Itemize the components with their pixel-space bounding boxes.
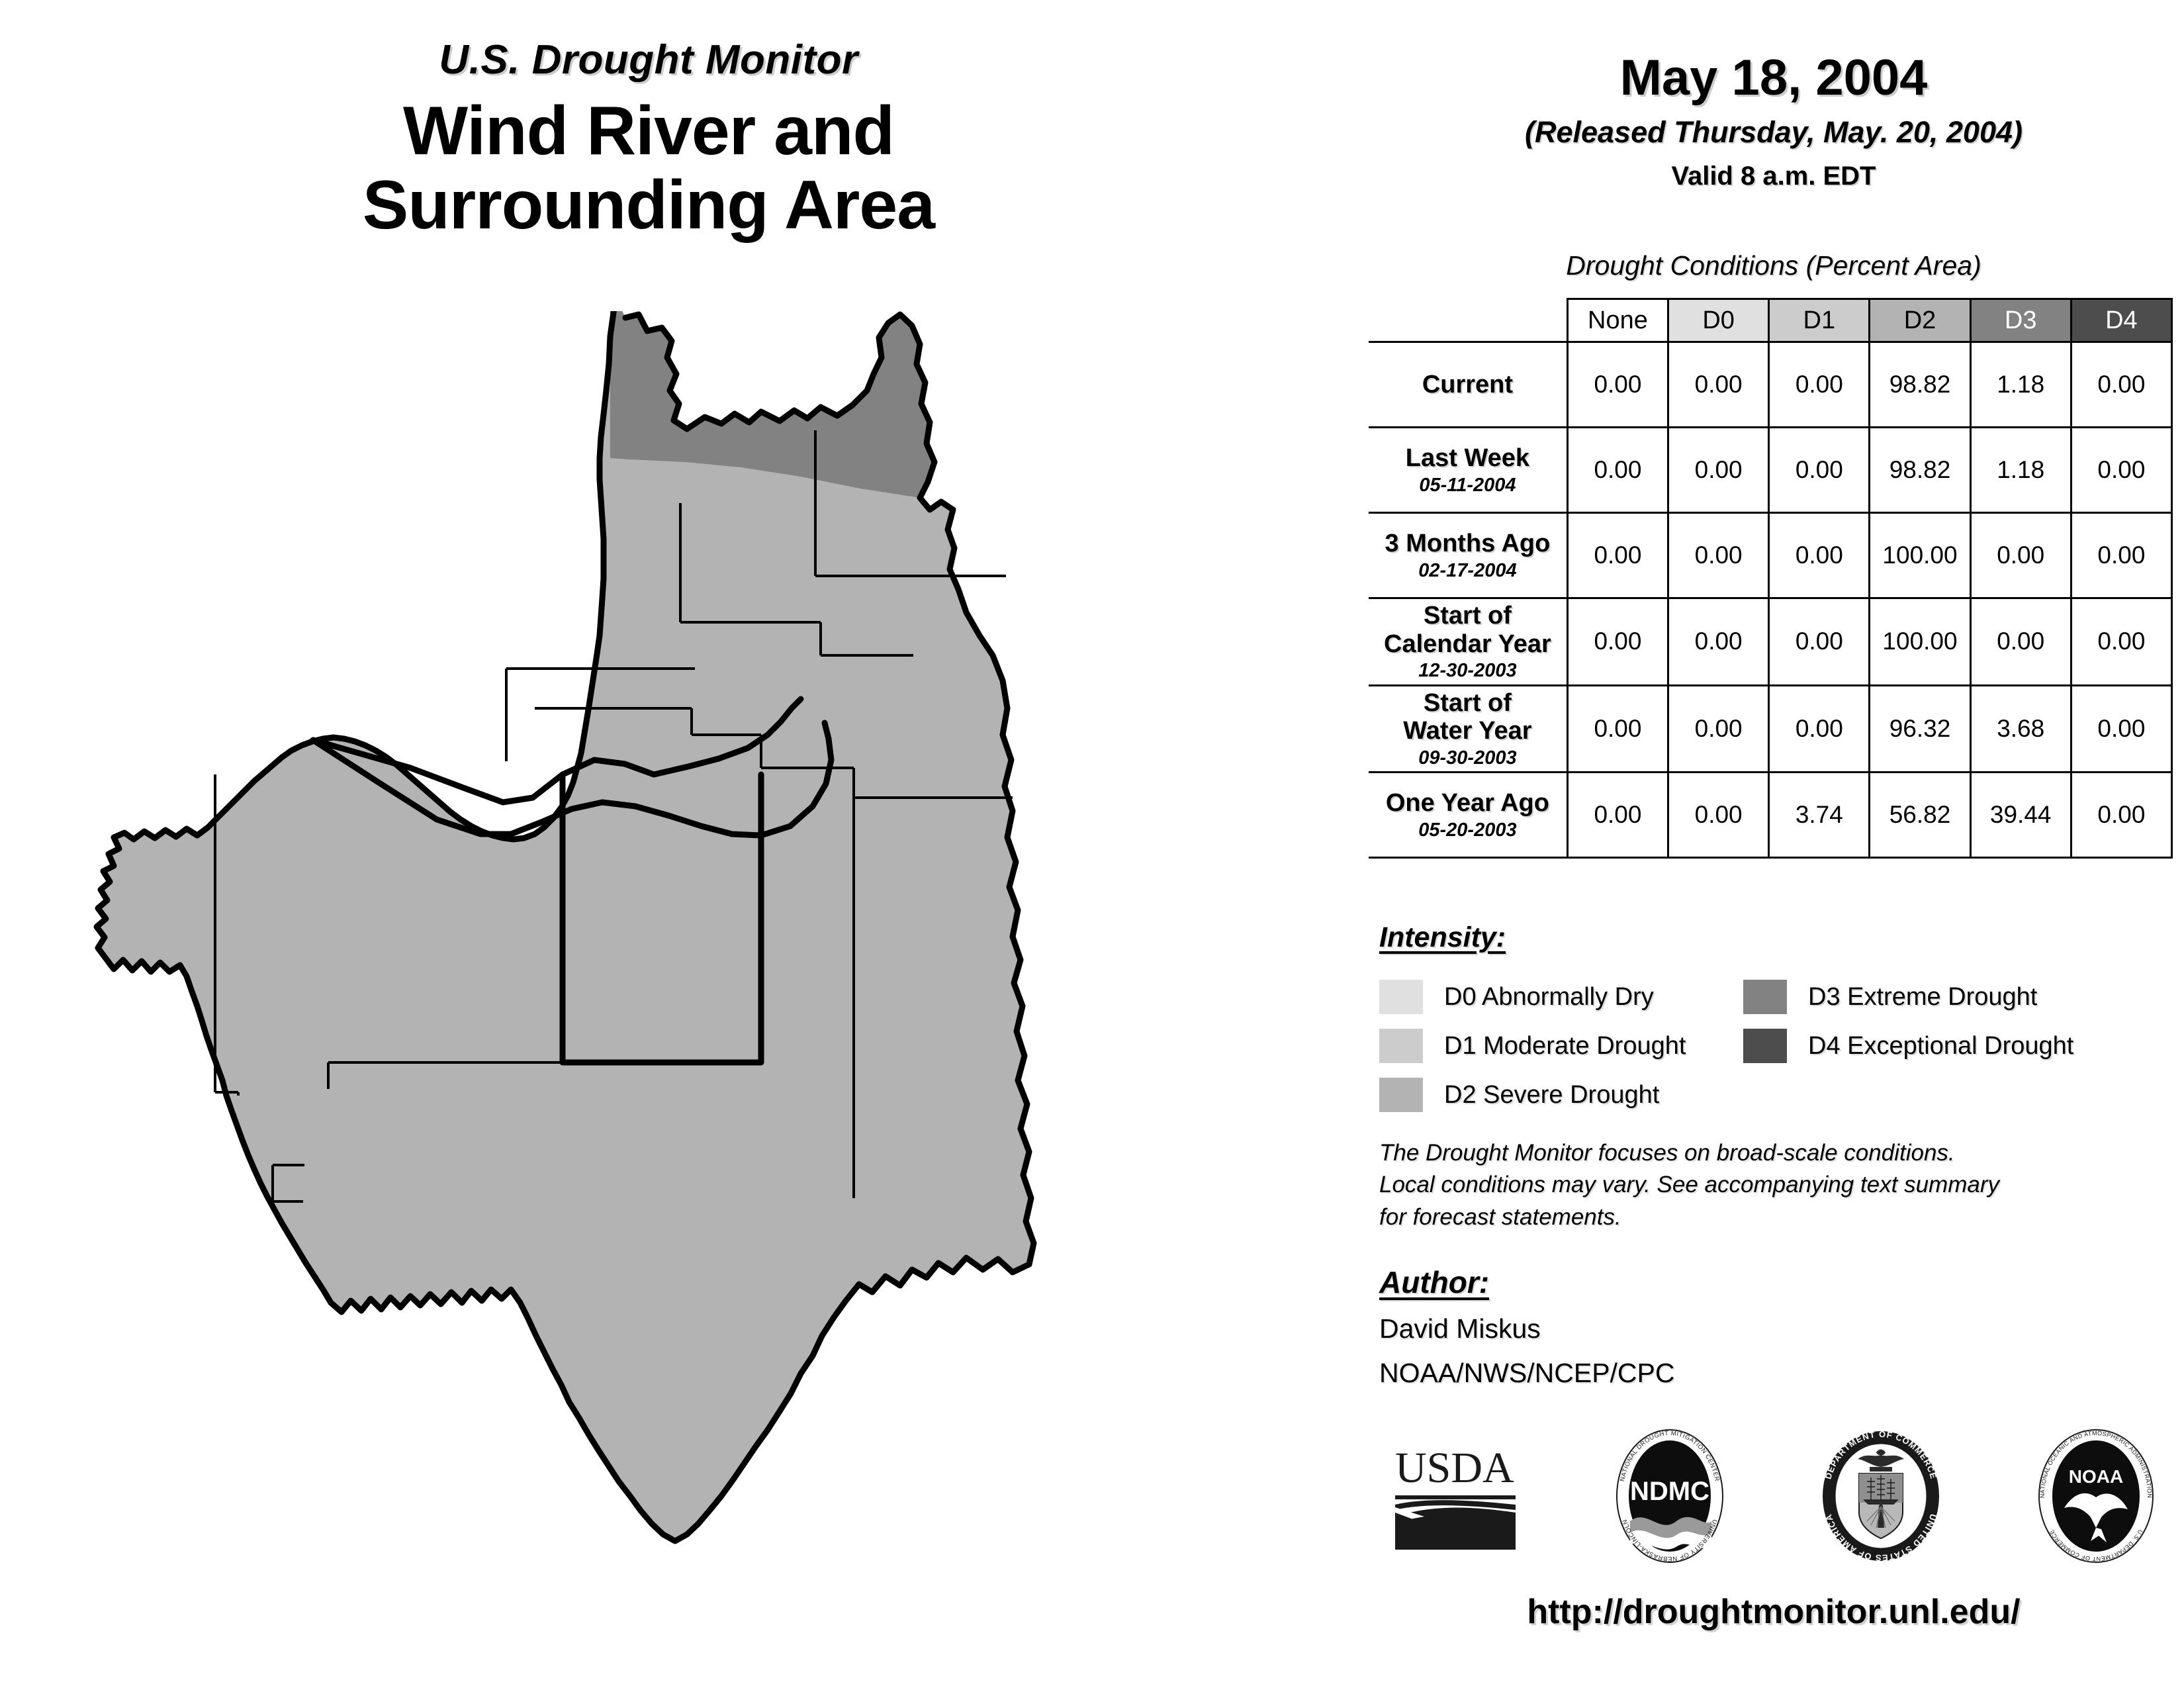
table-row: 3 Months Ago02-17-20040.000.000.00100.00…: [1369, 513, 2172, 598]
value-cell-d0: 0.00: [1668, 513, 1769, 598]
legend-label-d1: D1 Moderate Drought: [1444, 1032, 1686, 1060]
value-cell-d0: 0.00: [1668, 773, 1769, 858]
value-cell-d3: 1.18: [1970, 428, 2071, 513]
valid-time: Valid 8 a.m. EDT: [1363, 162, 2184, 191]
value-cell-d0: 0.00: [1668, 685, 1769, 773]
drought-map-svg[interactable]: [40, 311, 1337, 1556]
value-cell-d3: 3.68: [1970, 685, 2071, 773]
legend-item-d0: D0 Abnormally Dry: [1379, 972, 1743, 1021]
row-label-date: 05-11-2004: [1373, 475, 1563, 496]
author-block: Author: David Miskus NOAA/NWS/NCEP/CPC: [1379, 1264, 2160, 1389]
value-cell-d2: 98.82: [1870, 428, 1970, 513]
row-label-cell: 3 Months Ago02-17-2004: [1369, 513, 1567, 598]
column-header-d2: D2: [1870, 299, 1970, 342]
value-cell-d4: 0.00: [2071, 773, 2171, 858]
site-url-link[interactable]: http://droughtmonitor.unl.edu/: [1363, 1592, 2184, 1632]
legend-label-d2: D2 Severe Drought: [1444, 1081, 1659, 1109]
disclaimer-line-3: for forecast statements.: [1379, 1201, 2160, 1233]
noaa-logo: NOAA NATIONAL OCEANIC AND ATMOSPHERIC AD…: [2035, 1429, 2158, 1568]
value-cell-none: 0.00: [1567, 513, 1668, 598]
table-row: Current0.000.000.0098.821.180.00: [1369, 342, 2172, 428]
row-label-main: Start of: [1373, 689, 1563, 718]
ndmc-logo-icon: NDMC NATIONAL DROUGHT MITIGATION CENTER …: [1614, 1429, 1726, 1564]
ndmc-logo: NDMC NATIONAL DROUGHT MITIGATION CENTER …: [1614, 1429, 1726, 1568]
logo-row: USDA NDMC NATIONAL DROUGHT MITIGATION CE…: [1390, 1427, 2158, 1569]
ndmc-logo-text: NDMC: [1630, 1477, 1709, 1506]
value-cell-d0: 0.00: [1668, 598, 1769, 686]
disclaimer-text: The Drought Monitor focuses on broad-sca…: [1379, 1137, 2160, 1233]
value-cell-d1: 0.00: [1769, 685, 1870, 773]
value-cell-d4: 0.00: [2071, 513, 2171, 598]
legend-grid: D0 Abnormally DryD3 Extreme DroughtD1 Mo…: [1379, 972, 2173, 1119]
row-label-date: 02-17-2004: [1373, 560, 1563, 581]
usda-logo-text: USDA: [1395, 1444, 1514, 1492]
disclaimer-line-2: Local conditions may vary. See accompany…: [1379, 1169, 2160, 1201]
noaa-logo-text: NOAA: [2069, 1466, 2123, 1487]
map-panel: U.S. Drought Monitor Wind River and Surr…: [0, 0, 1363, 1688]
value-cell-d1: 0.00: [1769, 598, 1870, 686]
table-corner-cell: [1369, 299, 1567, 342]
column-header-none: None: [1567, 299, 1668, 342]
disclaimer-line-1: The Drought Monitor focuses on broad-sca…: [1379, 1137, 2160, 1169]
row-label-main: Last Week: [1373, 444, 1563, 473]
legend-swatch-d2: [1379, 1078, 1423, 1112]
drought-monitor-label: U.S. Drought Monitor: [0, 40, 1297, 81]
intensity-heading: Intensity:: [1379, 921, 2173, 954]
table-row: Start ofWater Year09-30-20030.000.000.00…: [1369, 685, 2172, 773]
intensity-legend: Intensity: D0 Abnormally DryD3 Extreme D…: [1379, 921, 2173, 1119]
dept-commerce-seal-icon: DEPARTMENT OF COMMERCE UNITED STATES OF …: [1818, 1429, 1944, 1564]
value-cell-d4: 0.00: [2071, 428, 2171, 513]
value-cell-d1: 0.00: [1769, 513, 1870, 598]
valid-date: May 18, 2004: [1363, 53, 2184, 103]
table-caption: Drought Conditions (Percent Area): [1363, 250, 2184, 281]
value-cell-none: 0.00: [1567, 773, 1668, 858]
row-label-date: 09-30-2003: [1373, 747, 1563, 769]
row-label-main: 3 Months Ago: [1373, 530, 1563, 558]
value-cell-d2: 98.82: [1870, 342, 1970, 428]
value-cell-d1: 0.00: [1769, 342, 1870, 428]
value-cell-d2: 100.00: [1870, 513, 1970, 598]
value-cell-d2: 56.82: [1870, 773, 1970, 858]
value-cell-d3: 0.00: [1970, 598, 2071, 686]
table-row: Start ofCalendar Year12-30-20030.000.000…: [1369, 598, 2172, 686]
date-block: May 18, 2004 (Released Thursday, May. 20…: [1363, 53, 2184, 191]
value-cell-d1: 0.00: [1769, 428, 1870, 513]
value-cell-d2: 100.00: [1870, 598, 1970, 686]
title-block: U.S. Drought Monitor Wind River and Surr…: [0, 40, 1297, 243]
row-label-cell: Last Week05-11-2004: [1369, 428, 1567, 513]
legend-item-d1: D1 Moderate Drought: [1379, 1021, 1743, 1070]
row-label-cell: Start ofCalendar Year12-30-2003: [1369, 598, 1567, 686]
value-cell-none: 0.00: [1567, 428, 1668, 513]
row-label-cell: One Year Ago05-20-2003: [1369, 773, 1567, 858]
legend-item-d3: D3 Extreme Drought: [1743, 972, 2140, 1021]
legend-swatch-d3: [1743, 980, 1787, 1014]
region-title-line-2: Surrounding Area: [0, 168, 1297, 242]
legend-swatch-d1: [1379, 1029, 1423, 1063]
author-name: David Miskus: [1379, 1313, 2160, 1344]
value-cell-d4: 0.00: [2071, 685, 2171, 773]
value-cell-d0: 0.00: [1668, 342, 1769, 428]
author-affiliation: NOAA/NWS/NCEP/CPC: [1379, 1358, 2160, 1389]
value-cell-none: 0.00: [1567, 685, 1668, 773]
value-cell-d4: 0.00: [2071, 598, 2171, 686]
legend-swatch-d4: [1743, 1029, 1787, 1063]
legend-item-d4: D4 Exceptional Drought: [1743, 1021, 2140, 1070]
row-label-date: 05-20-2003: [1373, 820, 1563, 841]
value-cell-d3: 0.00: [1970, 513, 2071, 598]
row-label-cell: Start ofWater Year09-30-2003: [1369, 685, 1567, 773]
table-row: One Year Ago05-20-20030.000.003.7456.823…: [1369, 773, 2172, 858]
row-label-main: Calendar Year: [1373, 630, 1563, 659]
table-header-row: None D0 D1 D2 D3 D4: [1369, 299, 2172, 342]
value-cell-d4: 0.00: [2071, 342, 2171, 428]
usda-logo: USDA: [1390, 1438, 1522, 1558]
value-cell-d2: 96.32: [1870, 685, 1970, 773]
author-heading: Author:: [1379, 1264, 2160, 1300]
column-header-d0: D0: [1668, 299, 1769, 342]
info-panel: May 18, 2004 (Released Thursday, May. 20…: [1363, 0, 2184, 1688]
row-label-main: Water Year: [1373, 717, 1563, 745]
value-cell-d0: 0.00: [1668, 428, 1769, 513]
value-cell-d1: 3.74: [1769, 773, 1870, 858]
legend-label-d3: D3 Extreme Drought: [1808, 983, 2037, 1011]
value-cell-none: 0.00: [1567, 598, 1668, 686]
row-label-main: Start of: [1373, 602, 1563, 630]
row-label-cell: Current: [1369, 342, 1567, 428]
noaa-logo-icon: NOAA NATIONAL OCEANIC AND ATMOSPHERIC AD…: [2035, 1429, 2158, 1564]
column-header-d1: D1: [1769, 299, 1870, 342]
region-title-line-1: Wind River and: [0, 94, 1297, 168]
value-cell-d3: 1.18: [1970, 342, 2071, 428]
legend-label-d4: D4 Exceptional Drought: [1808, 1032, 2073, 1060]
drought-conditions-table: None D0 D1 D2 D3 D4 Current0.000.000.009…: [1369, 298, 2173, 859]
row-label-date: 12-30-2003: [1373, 660, 1563, 681]
column-header-d4: D4: [2071, 299, 2171, 342]
legend-label-d0: D0 Abnormally Dry: [1444, 983, 1654, 1011]
legend-item-d2: D2 Severe Drought: [1379, 1070, 1743, 1119]
value-cell-d3: 39.44: [1970, 773, 2071, 858]
usda-logo-icon: USDA: [1390, 1438, 1522, 1554]
page-title: Wind River and Surrounding Area: [0, 94, 1297, 243]
row-label-main: One Year Ago: [1373, 789, 1563, 818]
row-label-main: Current: [1373, 371, 1563, 399]
value-cell-none: 0.00: [1567, 342, 1668, 428]
column-header-d3: D3: [1970, 299, 2071, 342]
dept-commerce-seal: DEPARTMENT OF COMMERCE UNITED STATES OF …: [1818, 1429, 1944, 1568]
table-row: Last Week05-11-20040.000.000.0098.821.18…: [1369, 428, 2172, 513]
release-date: (Released Thursday, May. 20, 2004): [1363, 115, 2184, 150]
legend-swatch-d0: [1379, 980, 1423, 1014]
table-body: Current0.000.000.0098.821.180.00Last Wee…: [1369, 342, 2172, 858]
drought-map[interactable]: [40, 311, 1337, 1556]
